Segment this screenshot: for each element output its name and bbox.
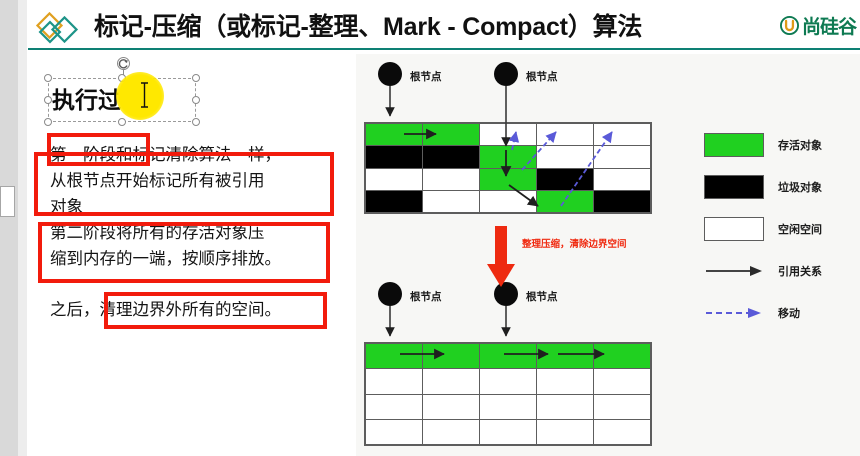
memory-cell-white: [537, 124, 593, 145]
root-node-dot: [494, 62, 518, 86]
compact-transform-arrow-icon: [486, 226, 516, 288]
legend-item-move: 移动: [704, 292, 854, 334]
legend-label: 空闲空间: [778, 221, 822, 237]
legend-item-reference: 引用关系: [704, 250, 854, 292]
memory-cell-white: [594, 124, 650, 145]
slide-title-bar: 标记-压缩（或标记-整理、Mark - Compact）算法 尚硅谷: [28, 4, 860, 50]
legend-swatch-green: [704, 133, 764, 157]
memory-cell-white: [594, 146, 650, 167]
annotation-rect-cleanup: [104, 292, 327, 329]
memory-cell-white: [366, 420, 422, 444]
memory-cell-white: [480, 420, 536, 444]
window-left-gutter: [0, 0, 27, 456]
memory-cell-black: [366, 191, 422, 212]
legend-item-free: 空闲空间: [704, 208, 854, 250]
memory-cell-white: [423, 420, 479, 444]
brand-name: 尚硅谷: [802, 12, 856, 39]
slide-canvas: 标记-压缩（或标记-整理、Mark - Compact）算法 尚硅谷 执行过程:: [0, 0, 860, 456]
memory-cell-green: [366, 124, 422, 145]
memory-cell-white: [537, 369, 593, 393]
memory-cell-black: [423, 146, 479, 167]
root-node-label: 根节点: [526, 69, 558, 84]
dashed-arrow-icon: [704, 304, 764, 322]
memory-cell-white: [594, 395, 650, 419]
memory-cell-green: [537, 344, 593, 368]
legend-item-garbage: 垃圾对象: [704, 166, 854, 208]
resize-handle-w[interactable]: [44, 96, 52, 104]
memory-cell-white: [480, 395, 536, 419]
memory-cell-white: [594, 420, 650, 444]
resize-handle-ne[interactable]: [192, 74, 200, 82]
memory-cell-white: [480, 369, 536, 393]
diagram-panel: 根节点 根节点 根节点 根节点: [356, 54, 860, 456]
memory-cell-green: [594, 344, 650, 368]
atguigu-u-icon: [780, 16, 799, 35]
memory-cell-white: [366, 169, 422, 190]
legend-label: 垃圾对象: [778, 179, 822, 195]
memory-cell-green: [366, 344, 422, 368]
memory-cell-white: [366, 395, 422, 419]
memory-cell-white: [423, 191, 479, 212]
legend-swatch-black: [704, 175, 764, 199]
memory-grid-after: [364, 342, 652, 446]
left-content-column: 执行过程: 第一阶段和标记清除算法一样， 从根节点开始标记所有被引用 对象 第二…: [28, 52, 348, 456]
memory-cell-green: [423, 124, 479, 145]
legend-label: 存活对象: [778, 137, 822, 153]
memory-cell-green: [480, 344, 536, 368]
diamond-logo-icon: [34, 10, 90, 46]
memory-cell-black: [594, 191, 650, 212]
memory-cell-white: [366, 369, 422, 393]
resize-handle-se[interactable]: [192, 118, 200, 126]
scrollbar-track[interactable]: [18, 0, 27, 456]
legend-label: 移动: [778, 305, 800, 321]
memory-grid-before: [364, 122, 652, 214]
memory-cell-white: [423, 395, 479, 419]
memory-cell-white: [537, 395, 593, 419]
root-node-label: 根节点: [526, 289, 558, 304]
memory-cell-white: [594, 169, 650, 190]
memory-cell-green: [537, 191, 593, 212]
root-node-dot: [378, 62, 402, 86]
memory-cell-white: [537, 420, 593, 444]
memory-cell-black: [366, 146, 422, 167]
memory-cell-white: [480, 191, 536, 212]
memory-cell-green: [423, 344, 479, 368]
scrollbar-thumb[interactable]: [0, 186, 15, 217]
memory-cell-white: [480, 124, 536, 145]
legend: 存活对象 垃圾对象 空闲空间 引用关系: [704, 124, 854, 334]
page-title: 标记-压缩（或标记-整理、Mark - Compact）算法: [94, 8, 642, 46]
memory-cell-green: [480, 169, 536, 190]
legend-swatch-white: [704, 217, 764, 241]
text-caret-icon: [140, 82, 149, 108]
annotation-rect-phase-two: [38, 222, 330, 283]
memory-cell-white: [423, 369, 479, 393]
memory-cell-white: [423, 169, 479, 190]
memory-cell-black: [537, 169, 593, 190]
memory-cell-white: [594, 369, 650, 393]
root-node-dot: [378, 282, 402, 306]
resize-handle-e[interactable]: [192, 96, 200, 104]
brand-logo: 尚硅谷: [780, 12, 856, 39]
resize-handle-nw[interactable]: [44, 74, 52, 82]
legend-item-live: 存活对象: [704, 124, 854, 166]
resize-handle-sw[interactable]: [44, 118, 52, 126]
root-node-label: 根节点: [410, 289, 442, 304]
annotation-rect-phase-one-body: [34, 152, 334, 216]
root-node-label: 根节点: [410, 69, 442, 84]
legend-label: 引用关系: [778, 263, 822, 279]
rotate-handle-icon[interactable]: [116, 56, 131, 71]
memory-cell-green: [480, 146, 536, 167]
resize-handle-s[interactable]: [118, 118, 126, 126]
solid-arrow-icon: [704, 262, 764, 280]
compact-transform-caption: 整理压缩，清除边界空间: [522, 236, 627, 250]
memory-cell-white: [537, 146, 593, 167]
